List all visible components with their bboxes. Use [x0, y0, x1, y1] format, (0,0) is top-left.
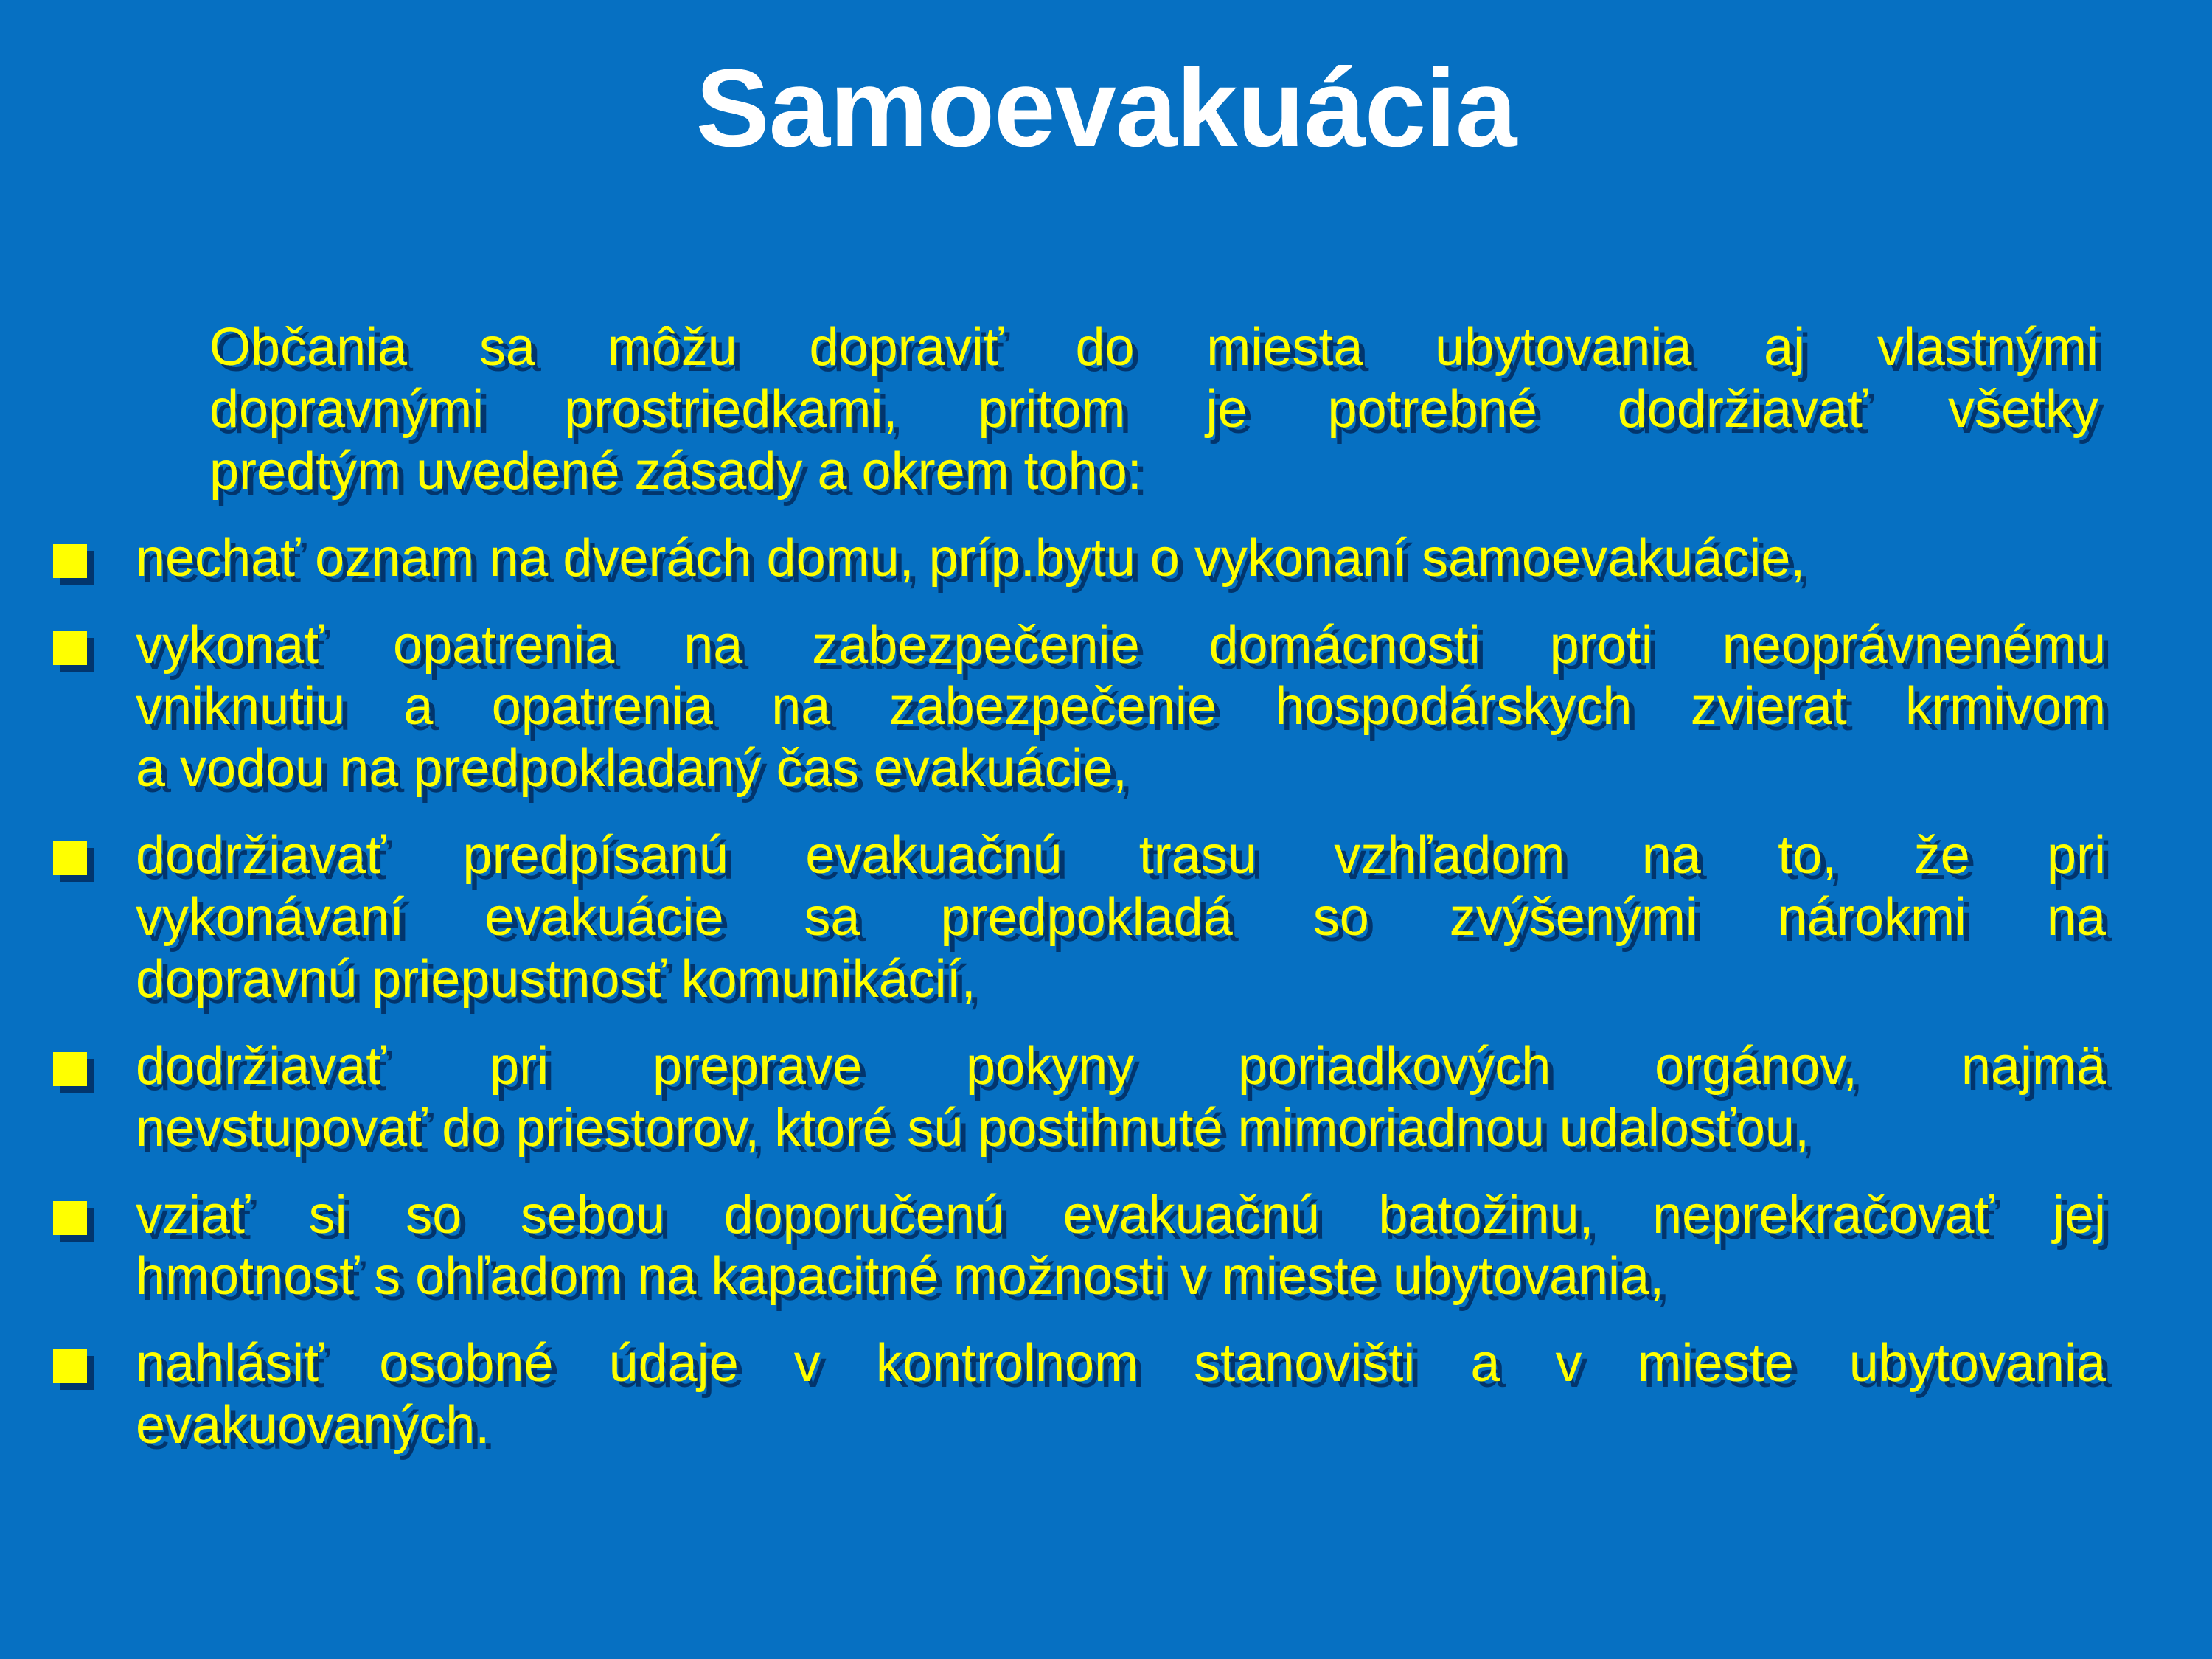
bullet-5-line-1: vziať si so sebou doporučenú evakuačnú b… [136, 1185, 2106, 1247]
bullet-3-line-2: vykonávaní evakuácie sa predpokladá so z… [136, 887, 2106, 949]
list-item-text: dodržiavať predpísanú evakuačnú trasu vz… [136, 825, 2106, 1011]
bullet-list: nechať oznam na dverách domu, príp.bytu … [49, 528, 2106, 1457]
intro-paragraph: Občania sa môžu dopraviť do miesta ubyto… [49, 317, 2106, 503]
bullet-6-line-2: evakuovaných. [136, 1395, 2106, 1457]
bullet-6-line-1: nahlásiť osobné údaje v kontrolnom stano… [136, 1333, 2106, 1395]
bullet-1-line-1: nechať oznam na dverách domu, príp.bytu … [136, 528, 2106, 590]
square-bullet-icon [53, 1349, 87, 1383]
bullet-5-line-2: hmotnosť s ohľadom na kapacitné možnosti… [136, 1246, 2106, 1308]
square-bullet-icon [53, 1201, 87, 1235]
bullet-2-line-1: vykonať opatrenia na zabezpečenie domácn… [136, 615, 2106, 677]
list-item-text: dodržiavať pri preprave pokyny poriadkov… [136, 1036, 2106, 1160]
intro-line-3: predtým uvedené zásady a okrem toho: [136, 441, 2098, 503]
bullet-4-line-1: dodržiavať pri preprave pokyny poriadkov… [136, 1036, 2106, 1098]
list-item: nechať oznam na dverách domu, príp.bytu … [49, 528, 2106, 590]
slide-title-container: Samoevakuácia [0, 52, 2212, 164]
intro-line-1: Občania sa môžu dopraviť do miesta ubyto… [136, 317, 2098, 379]
page-title: Samoevakuácia [696, 52, 1517, 164]
list-item: vziať si so sebou doporučenú evakuačnú b… [49, 1185, 2106, 1309]
square-bullet-icon [53, 841, 87, 875]
square-bullet-icon [53, 544, 87, 578]
bullet-2-line-3: a vodou na predpokladaný čas evakuácie, [136, 738, 2106, 800]
bullet-3-line-3: dopravnú priepustnosť komunikácií, [136, 949, 2106, 1011]
list-item: dodržiavať pri preprave pokyny poriadkov… [49, 1036, 2106, 1160]
list-item-text: nahlásiť osobné údaje v kontrolnom stano… [136, 1333, 2106, 1457]
bullet-4-line-2: nevstupovať do priestorov, ktoré sú post… [136, 1098, 2106, 1160]
list-item: nahlásiť osobné údaje v kontrolnom stano… [49, 1333, 2106, 1457]
square-bullet-icon [53, 631, 87, 665]
square-bullet-icon [53, 1052, 87, 1086]
list-item: dodržiavať predpísanú evakuačnú trasu vz… [49, 825, 2106, 1011]
bullet-2-line-2: vniknutiu a opatrenia na zabezpečenie ho… [136, 676, 2106, 738]
list-item: vykonať opatrenia na zabezpečenie domácn… [49, 615, 2106, 801]
list-item-text: vziať si so sebou doporučenú evakuačnú b… [136, 1185, 2106, 1309]
bullet-3-line-1: dodržiavať predpísanú evakuačnú trasu vz… [136, 825, 2106, 887]
intro-line-2: dopravnými prostriedkami, pritom je potr… [136, 379, 2098, 441]
list-item-text: nechať oznam na dverách domu, príp.bytu … [136, 528, 2106, 590]
list-item-text: vykonať opatrenia na zabezpečenie domácn… [136, 615, 2106, 801]
presentation-slide: Samoevakuácia Občania sa môžu dopraviť d… [0, 0, 2212, 1659]
slide-body: Občania sa môžu dopraviť do miesta ubyto… [49, 317, 2106, 1457]
